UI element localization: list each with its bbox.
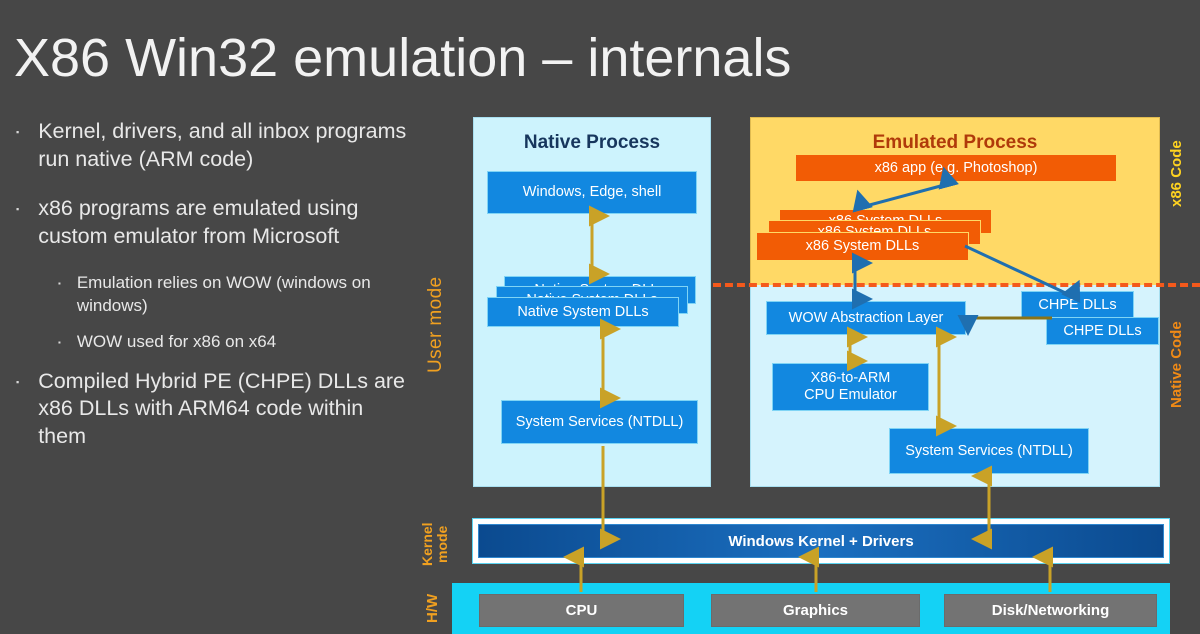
- list-item: ▪ Compiled Hybrid PE (CHPE) DLLs are x86…: [10, 368, 410, 451]
- emulated-process-title: Emulated Process: [751, 132, 1159, 154]
- box-label: System Services (NTDLL): [905, 443, 1073, 460]
- bullet-square-icon: ▪: [58, 339, 61, 347]
- box-label: CHPE DLLs: [1038, 297, 1116, 314]
- box-x86-system-dlls-1[interactable]: x86 System DLLs: [756, 232, 969, 261]
- box-chpe-dlls-1[interactable]: CHPE DLLs: [1021, 291, 1134, 319]
- list-item: ▪ x86 programs are emulated using custom…: [10, 195, 410, 250]
- list-item-label: Kernel, drivers, and all inbox programs …: [38, 118, 410, 173]
- bullet-square-icon: ▪: [16, 205, 19, 214]
- list-item: ▪ Kernel, drivers, and all inbox program…: [10, 118, 410, 173]
- box-label: System Services (NTDLL): [516, 414, 684, 431]
- box-hardware-disk-networking[interactable]: Disk/Networking: [944, 594, 1157, 627]
- bullet-square-icon: ▪: [16, 378, 19, 387]
- list-item-label: Compiled Hybrid PE (CHPE) DLLs are x86 D…: [38, 368, 410, 451]
- box-label: Graphics: [783, 602, 848, 619]
- box-native-system-dlls-1[interactable]: Native System DLLs: [487, 297, 679, 327]
- list-item: ▪ Emulation relies on WOW (windows on wi…: [10, 272, 410, 317]
- bullet-list: ▪ Kernel, drivers, and all inbox program…: [10, 118, 410, 472]
- native-process-title: Native Process: [474, 132, 710, 154]
- box-native-system-services-ntdll[interactable]: System Services (NTDLL): [501, 400, 698, 444]
- list-item: ▪ WOW used for x86 on x64: [10, 331, 410, 354]
- box-hardware-graphics[interactable]: Graphics: [711, 594, 920, 627]
- box-label: Disk/Networking: [992, 602, 1110, 619]
- box-label: CHPE DLLs: [1063, 323, 1141, 340]
- box-label-line1: X86-to-ARM: [811, 370, 891, 387]
- label-native-code: Native Code: [1168, 300, 1185, 430]
- box-windows-kernel-drivers[interactable]: Windows Kernel + Drivers: [478, 524, 1164, 558]
- box-x86-to-arm-cpu-emulator[interactable]: X86-to-ARM CPU Emulator: [772, 363, 929, 411]
- label-x86-code: x86 Code: [1168, 117, 1185, 231]
- label-user-mode: User mode: [425, 270, 447, 380]
- label-hardware: H/W: [424, 585, 441, 631]
- box-x86-app[interactable]: x86 app (e.g. Photoshop): [795, 154, 1117, 182]
- list-item-label: x86 programs are emulated using custom e…: [38, 195, 410, 250]
- slide-canvas: X86 Win32 emulation – internals ▪ Kernel…: [0, 0, 1200, 634]
- box-label: x86 System DLLs: [806, 238, 920, 255]
- label-kernel-mode: Kernel mode: [420, 516, 452, 572]
- page-title: X86 Win32 emulation – internals: [14, 27, 791, 89]
- box-windows-edge-shell[interactable]: Windows, Edge, shell: [487, 171, 697, 214]
- list-item-label: WOW used for x86 on x64: [77, 331, 410, 354]
- box-label-line2: CPU Emulator: [804, 387, 897, 404]
- box-hardware-cpu[interactable]: CPU: [479, 594, 684, 627]
- bullet-square-icon: ▪: [16, 128, 19, 137]
- list-item-label: Emulation relies on WOW (windows on wind…: [77, 272, 410, 317]
- box-label: Windows Kernel + Drivers: [728, 533, 913, 550]
- box-label: CPU: [566, 602, 598, 619]
- x86-native-code-divider: [713, 283, 1200, 287]
- box-emulated-system-services-ntdll[interactable]: System Services (NTDLL): [889, 428, 1089, 474]
- box-wow-abstraction-layer[interactable]: WOW Abstraction Layer: [766, 301, 966, 335]
- box-label: x86 app (e.g. Photoshop): [875, 160, 1038, 177]
- box-label: WOW Abstraction Layer: [789, 310, 944, 327]
- box-label: Native System DLLs: [517, 304, 648, 321]
- box-chpe-dlls-2[interactable]: CHPE DLLs: [1046, 317, 1159, 345]
- bullet-square-icon: ▪: [58, 280, 61, 288]
- box-label: Windows, Edge, shell: [523, 184, 662, 201]
